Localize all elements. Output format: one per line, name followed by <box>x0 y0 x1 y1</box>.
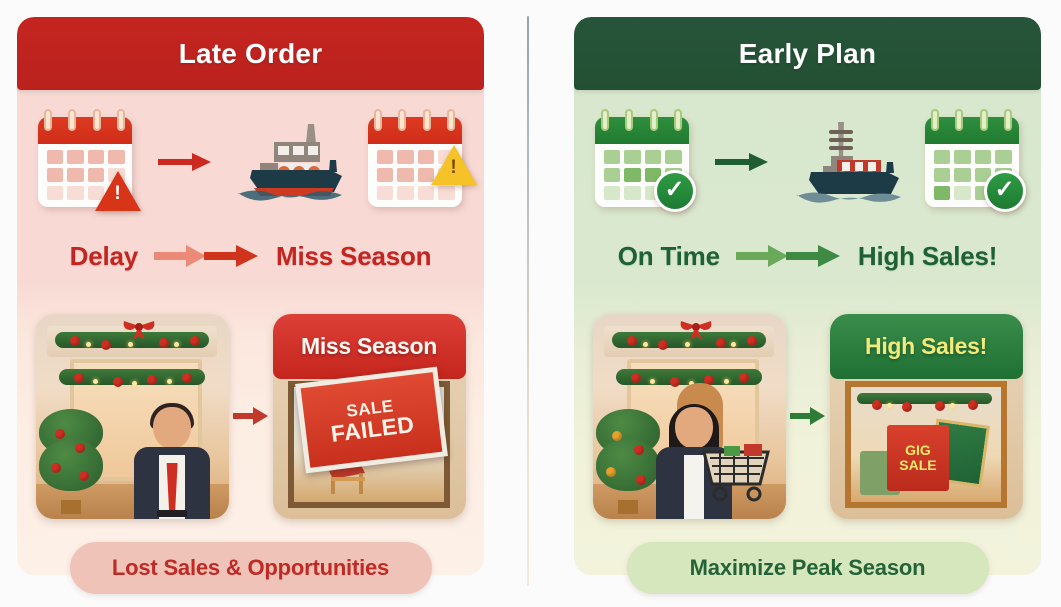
panel-early-header: Early Plan <box>574 17 1041 90</box>
closed-shop-with-sale-failed-sign: Miss Season <box>273 314 466 519</box>
early-calendar-end: ✓ <box>917 107 1029 217</box>
alert-triangle-red-icon: ! <box>96 169 140 213</box>
cargo-ship-icon <box>228 114 350 210</box>
panel-late-title: Late Order <box>179 38 323 70</box>
arrow-right-icon <box>152 151 218 173</box>
panel-late-order-clip: Late Order <box>17 17 484 575</box>
late-flow-from-label: Delay <box>70 241 138 272</box>
arrow-right-icon <box>229 405 273 427</box>
late-icon-row: ! <box>17 103 484 221</box>
high-sales-banner: High Sales! <box>830 314 1023 380</box>
early-photo-row: High Sales! <box>574 305 1041 527</box>
gig-sale-bag-line-1: GIG <box>905 443 931 458</box>
late-footer-pill: Lost Sales & Opportunities <box>70 542 432 594</box>
early-calendar-start: ✓ <box>587 107 699 217</box>
late-footer-pill-label: Lost Sales & Opportunities <box>112 555 389 581</box>
panel-late-header: Late Order <box>17 17 484 90</box>
arrow-right-icon <box>786 405 830 427</box>
late-calendar-start: ! <box>30 107 142 217</box>
cargo-ship-icon <box>785 114 907 210</box>
late-calendar-end: ! <box>360 107 472 217</box>
calendar-rings <box>44 109 126 131</box>
bow-icon <box>122 318 156 340</box>
late-flow-to-label: Miss Season <box>276 241 431 272</box>
double-arrow-right-icon <box>736 241 842 271</box>
vertical-divider <box>527 16 529 586</box>
early-flow-to-label: High Sales! <box>858 241 997 272</box>
gig-sale-bag: GIG SALE <box>887 425 949 491</box>
manager-figure <box>128 407 216 519</box>
warning-triangle-yellow-icon: ! <box>432 143 476 187</box>
bow-icon <box>679 318 713 340</box>
calendar-rings <box>931 109 1013 131</box>
busy-shop-with-sale-bag: High Sales! <box>830 314 1023 519</box>
late-photo-row: Miss Season <box>17 305 484 527</box>
check-circle-green-icon: ✓ <box>653 169 697 213</box>
panel-early-plan: Early Plan <box>574 17 1041 575</box>
decorated-storefront-with-manager <box>36 314 229 519</box>
shopping-cart-icon <box>694 440 778 502</box>
sale-sign-line-2: FAILED <box>329 411 415 445</box>
early-flow-from-label: On Time <box>618 241 720 272</box>
gig-sale-bag-line-2: SALE <box>899 458 936 473</box>
early-icon-row: ✓ <box>574 103 1041 221</box>
check-circle-green-icon: ✓ <box>983 169 1027 213</box>
calendar-rings <box>601 109 683 131</box>
panel-late-order: Late Order <box>17 17 484 575</box>
infographic-stage: Late Order <box>0 0 1061 607</box>
panel-early-title: Early Plan <box>739 38 876 70</box>
double-arrow-right-icon <box>154 241 260 271</box>
early-footer-pill-label: Maximize Peak Season <box>690 555 926 581</box>
christmas-tree-icon <box>39 409 103 514</box>
early-flow-row: On Time High Sales! <box>574 227 1041 285</box>
early-footer-pill: Maximize Peak Season <box>627 542 989 594</box>
miss-season-banner-text: Miss Season <box>301 333 437 360</box>
sale-failed-sign: SALE FAILED <box>295 367 448 474</box>
decorated-storefront-with-shopper <box>593 314 786 519</box>
panel-early-plan-clip: Early Plan <box>574 17 1041 575</box>
high-sales-banner-text: High Sales! <box>865 333 987 360</box>
late-flow-row: Delay Miss Season <box>17 227 484 285</box>
arrow-right-icon <box>709 151 775 173</box>
calendar-rings <box>374 109 456 131</box>
